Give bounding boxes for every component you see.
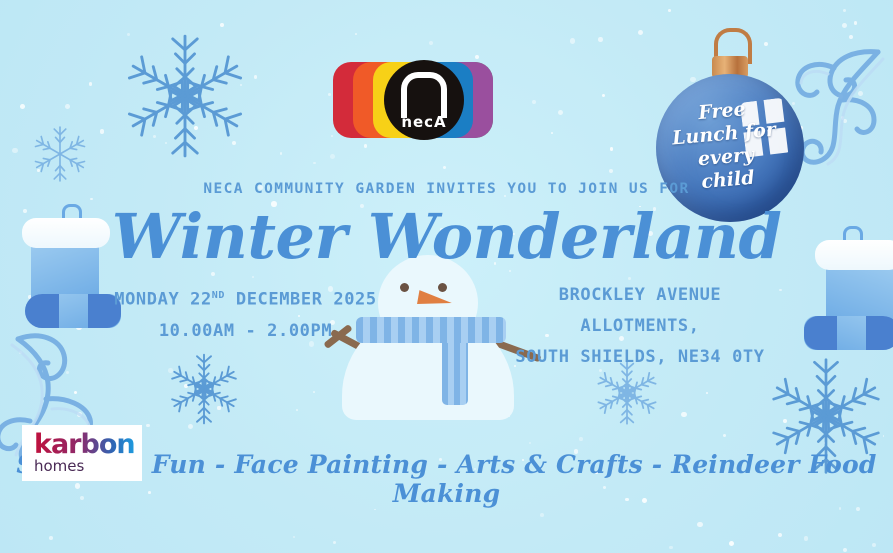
- karbon-subtitle: homes: [34, 458, 84, 475]
- karbon-wordmark: karbon: [34, 431, 135, 458]
- neca-wordmark: necA: [401, 113, 446, 131]
- neca-disc: necA: [384, 60, 464, 140]
- snowflake-large-topleft-icon: [115, 28, 255, 164]
- event-address: SOUTH SHIELDS, NE34 0TY: [500, 342, 780, 373]
- event-date-suffix: DECEMBER 2025: [225, 290, 377, 310]
- snowman-eye-left: [400, 283, 409, 292]
- snowflake-small-left-icon: [28, 122, 92, 186]
- karbon-homes-logo: karbon homes: [22, 425, 142, 481]
- event-date-prefix: MONDAY 22: [114, 290, 212, 310]
- neca-logo: necA: [333, 62, 493, 138]
- snowflake-mid-left-icon: [165, 350, 243, 428]
- event-time: 10.00AM - 2.00PM: [108, 316, 383, 347]
- stocking-toe: [804, 316, 837, 350]
- page-title: Winter Wonderland: [0, 203, 893, 271]
- snowman-eye-right: [438, 283, 447, 292]
- event-date: MONDAY 22ND DECEMBER 2025: [108, 280, 383, 316]
- event-venue: BROCKLEY AVENUE ALLOTMENTS,: [500, 280, 780, 342]
- poster-kicker: NECA COMMUNITY GARDEN INVITES YOU TO JOI…: [0, 181, 893, 197]
- event-datetime: MONDAY 22ND DECEMBER 2025 10.00AM - 2.00…: [108, 280, 383, 347]
- stocking-heel: [866, 316, 893, 350]
- stocking-heel: [25, 294, 59, 328]
- event-location: BROCKLEY AVENUE ALLOTMENTS, SOUTH SHIELD…: [500, 280, 780, 373]
- event-date-ordinal: ND: [212, 290, 225, 301]
- neca-arch-icon: [401, 72, 447, 118]
- snowman-scarf-tail: [442, 339, 468, 405]
- winter-wonderland-poster: necA Free Lunch for every child: [0, 0, 893, 553]
